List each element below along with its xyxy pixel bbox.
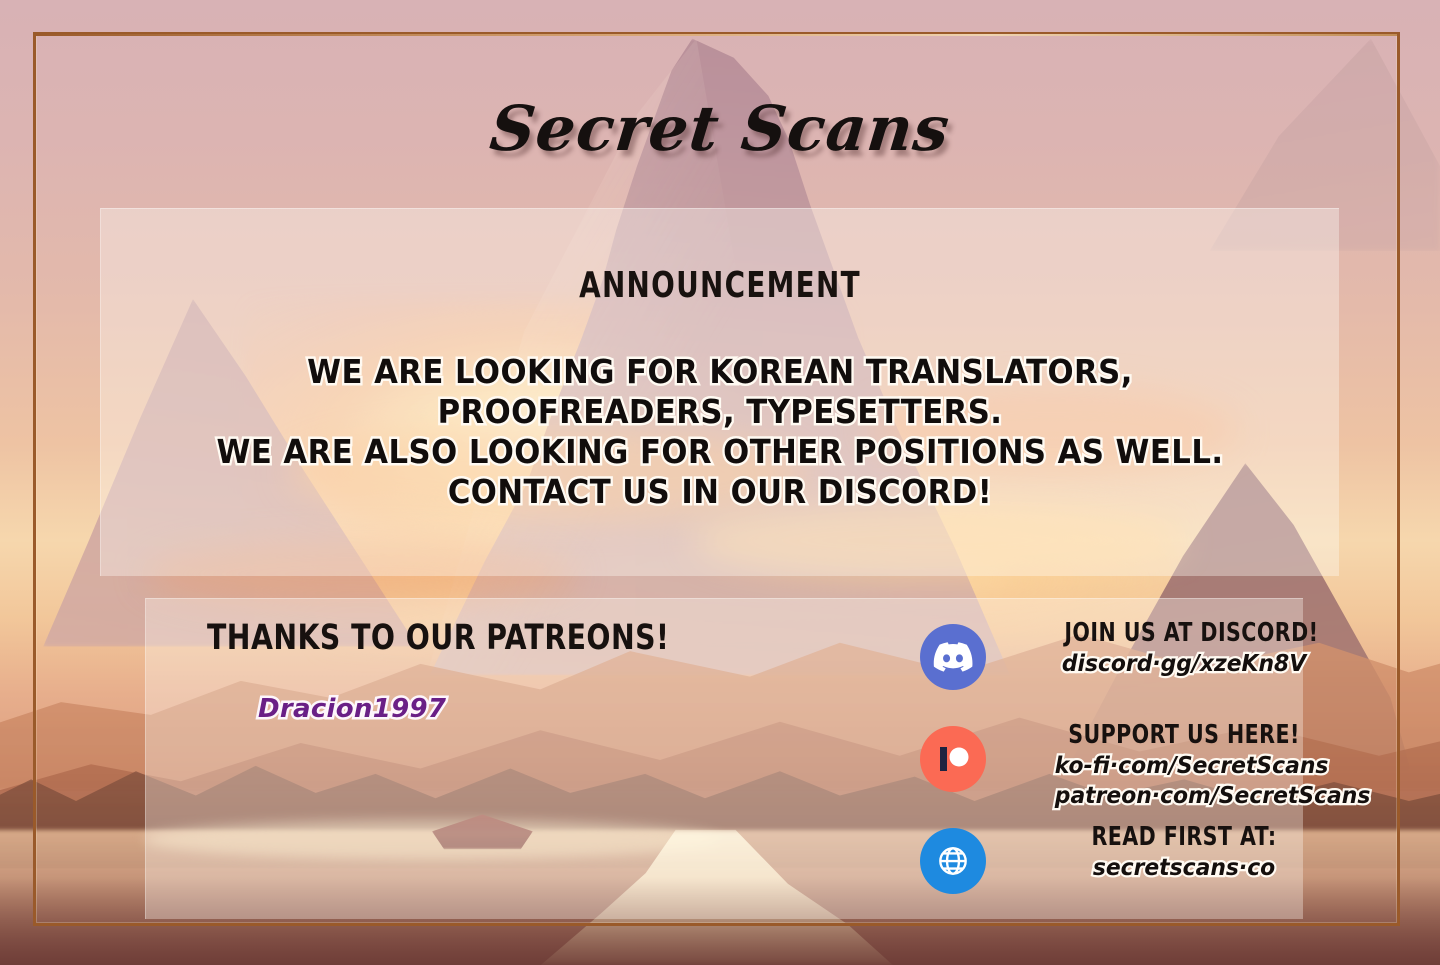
link-row-patreon[interactable]: SUPPORT US HERE! ko-fi·com/SecretScans p… [920, 720, 1320, 822]
patreon-text-block: SUPPORT US HERE! ko-fi·com/SecretScans p… [1048, 720, 1320, 810]
website-title: READ FIRST AT: [1064, 822, 1303, 852]
announcement-heading: ANNOUNCEMENT [101, 265, 1339, 306]
site-logo: Secret Scans [0, 92, 1440, 165]
patreon-name: Dracion1997 [258, 694, 446, 724]
announcement-body: WE ARE LOOKING FOR KOREAN TRANSLATORS, P… [50, 352, 1389, 512]
support-title: SUPPORT US HERE! [1064, 720, 1303, 750]
announcement-page: Secret Scans ANNOUNCEMENT WE ARE LOOKING… [0, 0, 1440, 965]
announcement-line: CONTACT US IN OUR DISCORD! [50, 472, 1389, 512]
discord-title: JOIN US AT DISCORD! [1064, 618, 1303, 648]
links-list: JOIN US AT DISCORD! discord·gg/xzeKn8V S… [920, 618, 1320, 924]
discord-url[interactable]: discord·gg/xzeKn8V [1055, 650, 1313, 678]
globe-icon[interactable] [920, 828, 986, 894]
link-row-discord[interactable]: JOIN US AT DISCORD! discord·gg/xzeKn8V [920, 618, 1320, 720]
announcement-line: WE ARE ALSO LOOKING FOR OTHER POSITIONS … [50, 432, 1389, 472]
website-text-block: READ FIRST AT: secretscans·co [1048, 822, 1320, 882]
discord-icon[interactable] [920, 624, 986, 690]
announcement-line: WE ARE LOOKING FOR KOREAN TRANSLATORS, [50, 352, 1389, 392]
discord-text-block: JOIN US AT DISCORD! discord·gg/xzeKn8V [1048, 618, 1320, 678]
kofi-url[interactable]: ko-fi·com/SecretScans [1055, 752, 1313, 780]
patreons-heading: THANKS TO OUR PATREONS! [207, 618, 669, 658]
website-url[interactable]: secretscans·co [1055, 854, 1313, 882]
patreon-icon[interactable] [920, 726, 986, 792]
patreon-url[interactable]: patreon·com/SecretScans [1055, 782, 1313, 810]
link-row-website[interactable]: READ FIRST AT: secretscans·co [920, 822, 1320, 924]
announcement-line: PROOFREADERS, TYPESETTERS. [50, 392, 1389, 432]
